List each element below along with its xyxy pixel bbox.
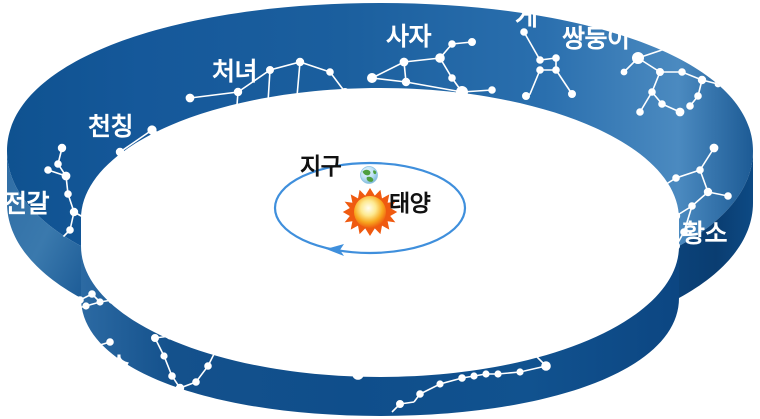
constellation-aquarius bbox=[253, 297, 377, 379]
zodiac-band-svg bbox=[0, 0, 760, 419]
earth-globe-icon bbox=[361, 167, 378, 184]
sun-icon bbox=[343, 188, 397, 236]
constellation-aries bbox=[549, 255, 635, 279]
zodiac-diagram bbox=[0, 0, 760, 419]
band-near-surface bbox=[81, 246, 679, 416]
solar-system-center bbox=[275, 163, 465, 256]
